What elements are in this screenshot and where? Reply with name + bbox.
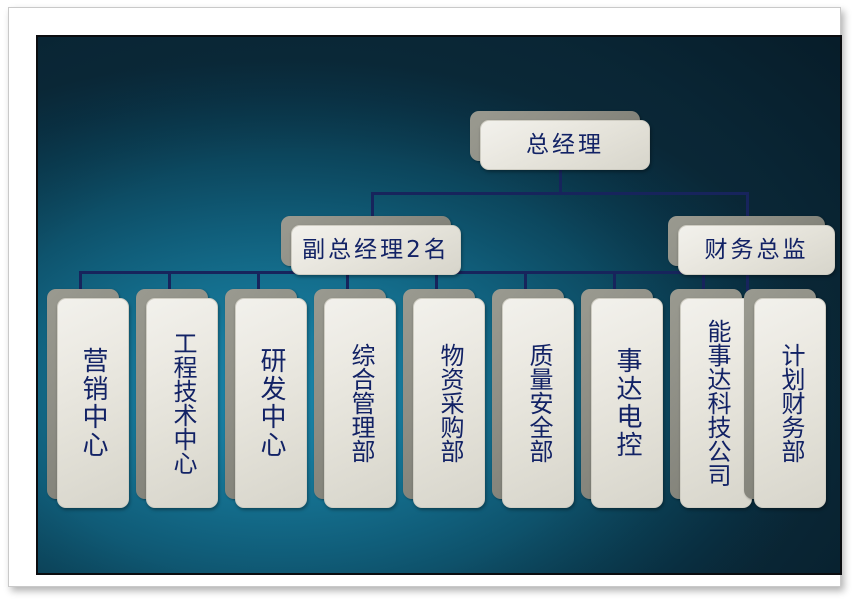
node-label: 综合管理部	[347, 343, 373, 463]
node-label: 总经理	[526, 133, 604, 158]
node-label: 能事达科技公司	[703, 319, 729, 487]
node-deputy-general-managers[interactable]: 副总经理2名	[281, 216, 451, 266]
node-label: 计划财务部	[777, 343, 803, 463]
node-label: 事达电控	[613, 347, 641, 459]
node-label: 工程技术中心	[169, 331, 195, 475]
node-face: 总经理	[480, 120, 650, 170]
node-label: 研发中心	[257, 347, 285, 459]
node-face: 工程技术中心	[146, 298, 218, 508]
node-label: 物资采购部	[436, 343, 462, 463]
connector-level2-bus	[371, 192, 749, 195]
node-department-materials-procurement[interactable]: 物资采购部	[403, 289, 475, 499]
connector-gm-stem	[559, 169, 562, 194]
node-face: 质量安全部	[502, 298, 574, 508]
node-department-nengshida-technology-company[interactable]: 能事达科技公司	[670, 289, 742, 499]
node-face: 物资采购部	[413, 298, 485, 508]
connector-to-finance-director	[746, 192, 749, 219]
node-face: 营销中心	[57, 298, 129, 508]
node-label: 质量安全部	[525, 343, 551, 463]
node-finance-director[interactable]: 财务总监	[668, 216, 825, 266]
node-face: 研发中心	[235, 298, 307, 508]
node-face: 能事达科技公司	[680, 298, 752, 508]
node-department-rnd-center[interactable]: 研发中心	[225, 289, 297, 499]
node-label: 财务总监	[705, 238, 809, 263]
slide-paper: 总经理 副总经理2名 财务总监 营销中心	[8, 7, 841, 587]
node-face: 事达电控	[591, 298, 663, 508]
org-chart-slide: 总经理 副总经理2名 财务总监 营销中心	[36, 35, 842, 575]
node-label: 副总经理2名	[302, 238, 450, 263]
node-department-quality-safety[interactable]: 质量安全部	[492, 289, 564, 499]
node-face: 综合管理部	[324, 298, 396, 508]
node-face: 财务总监	[678, 225, 835, 275]
node-department-engineering-technology-center[interactable]: 工程技术中心	[136, 289, 208, 499]
node-department-planning-finance[interactable]: 计划财务部	[744, 289, 816, 499]
slide-page-frame: 总经理 副总经理2名 财务总监 营销中心	[0, 0, 860, 605]
connector-to-deputy-gm	[371, 192, 374, 219]
node-department-general-management[interactable]: 综合管理部	[314, 289, 386, 499]
node-department-shida-electric-control[interactable]: 事达电控	[581, 289, 653, 499]
node-face: 副总经理2名	[291, 225, 461, 275]
node-general-manager[interactable]: 总经理	[470, 111, 640, 161]
node-face: 计划财务部	[754, 298, 826, 508]
node-label: 营销中心	[79, 347, 107, 459]
node-department-marketing-center[interactable]: 营销中心	[47, 289, 119, 499]
